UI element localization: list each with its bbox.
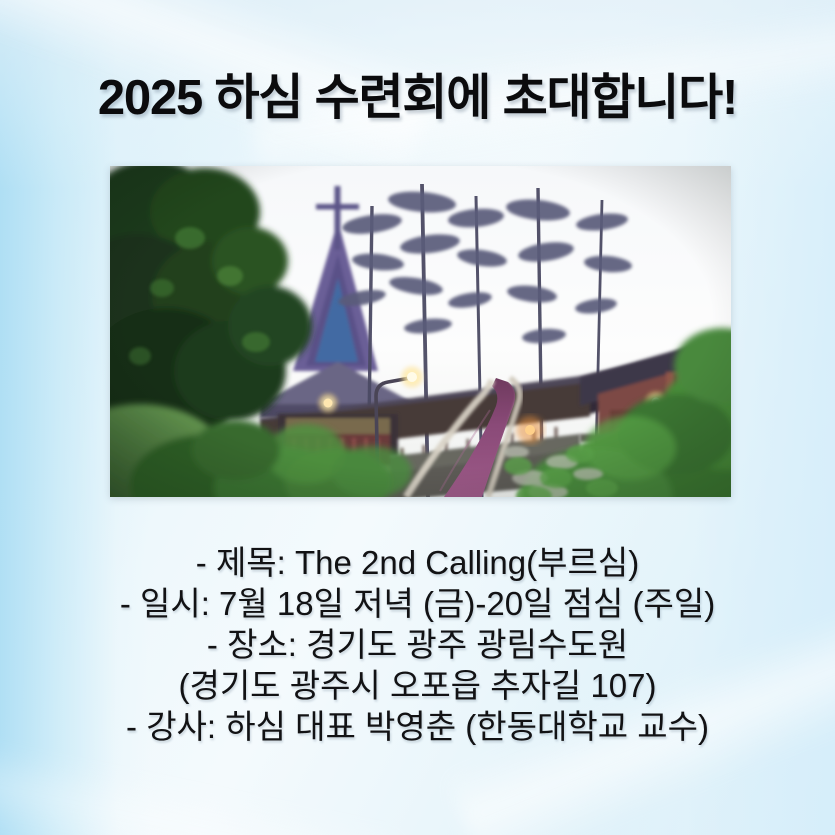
detail-line-speaker: - 강사: 하심 대표 박영춘 (한동대학교 교수) bbox=[0, 706, 835, 747]
detail-line-venue: - 장소: 경기도 광주 광림수도원 bbox=[0, 624, 835, 665]
retreat-center-photo bbox=[110, 166, 731, 497]
retreat-invitation-poster: 2025 하심 수련회에 초대합니다! bbox=[0, 0, 835, 835]
detail-line-address: (경기도 광주시 오포읍 추자길 107) bbox=[0, 665, 835, 706]
retreat-center-photo-illustration bbox=[110, 166, 731, 497]
detail-line-title: - 제목: The 2nd Calling(부르심) bbox=[0, 542, 835, 583]
page-title: 2025 하심 수련회에 초대합니다! bbox=[0, 58, 835, 129]
event-details-list: - 제목: The 2nd Calling(부르심) - 일시: 7월 18일 … bbox=[0, 542, 835, 747]
detail-line-date: - 일시: 7월 18일 저녁 (금)-20일 점심 (주일) bbox=[0, 583, 835, 624]
